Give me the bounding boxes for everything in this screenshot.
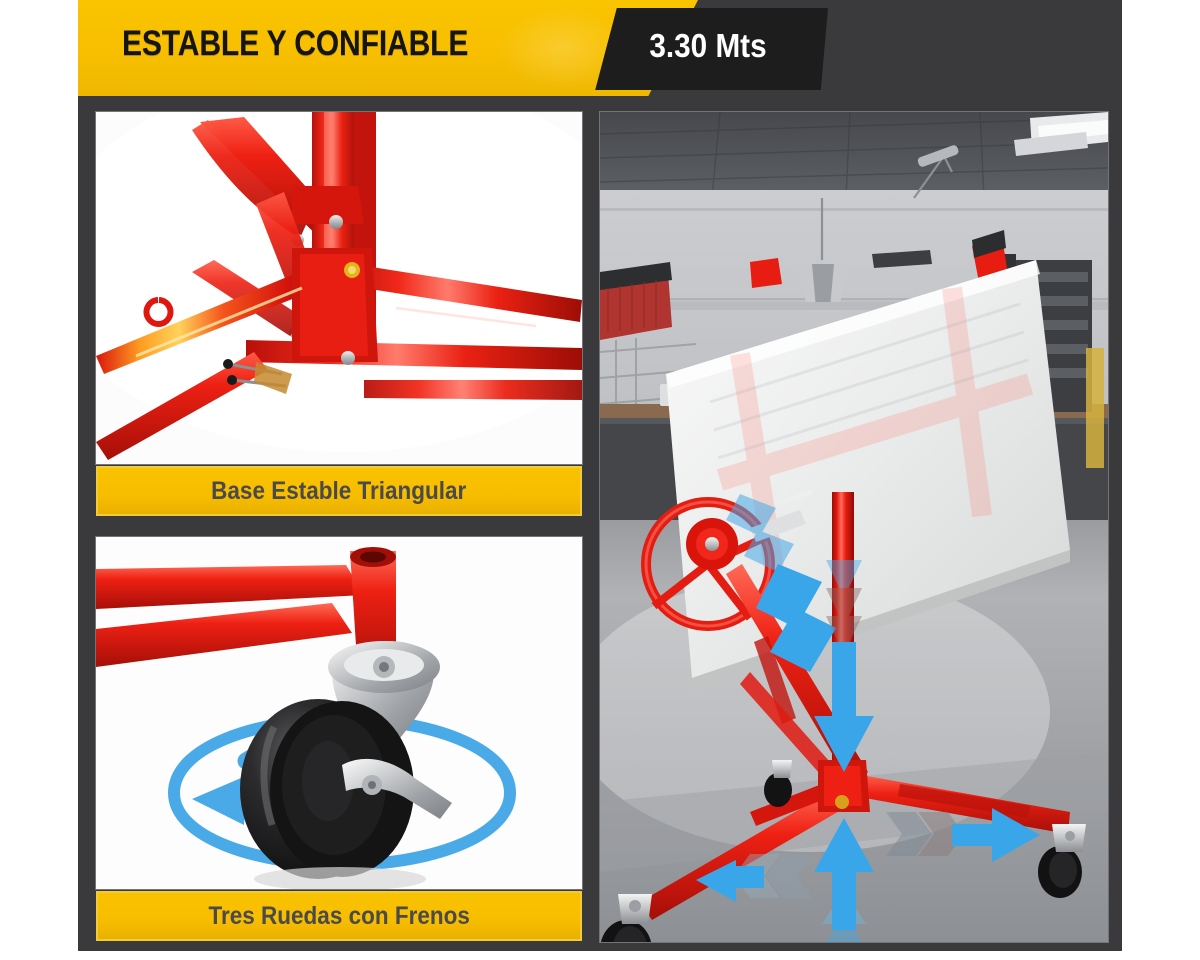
header-title: ESTABLE Y CONFIABLE xyxy=(122,24,468,64)
feature-photo-triangular-base xyxy=(96,112,582,464)
feature-photo-lift-in-use xyxy=(600,112,1108,942)
triangular-base-illustration xyxy=(96,112,582,464)
photo-caster-wheel xyxy=(96,537,582,889)
caption-triangular-base: Base Estable Triangular xyxy=(96,466,582,516)
feature-photo-caster-wheels xyxy=(96,537,582,889)
height-badge: 3.30 Mts xyxy=(588,8,828,90)
caption-triangular-base-text: Base Estable Triangular xyxy=(211,477,466,506)
caption-caster-wheels-text: Tres Ruedas con Frenos xyxy=(208,902,469,931)
header-banner: ESTABLE Y CONFIABLE 3.30 Mts xyxy=(78,0,1122,96)
photo-triangular-base xyxy=(96,112,582,464)
height-badge-label: 3.30 Mts xyxy=(600,27,816,65)
caster-wheel-illustration xyxy=(96,537,582,889)
garage-scene-illustration xyxy=(600,112,1108,942)
photo-drywall-lift-garage xyxy=(600,112,1108,942)
caption-caster-wheels: Tres Ruedas con Frenos xyxy=(96,891,582,941)
product-infographic: ESTABLE Y CONFIABLE 3.30 Mts xyxy=(0,0,1200,960)
